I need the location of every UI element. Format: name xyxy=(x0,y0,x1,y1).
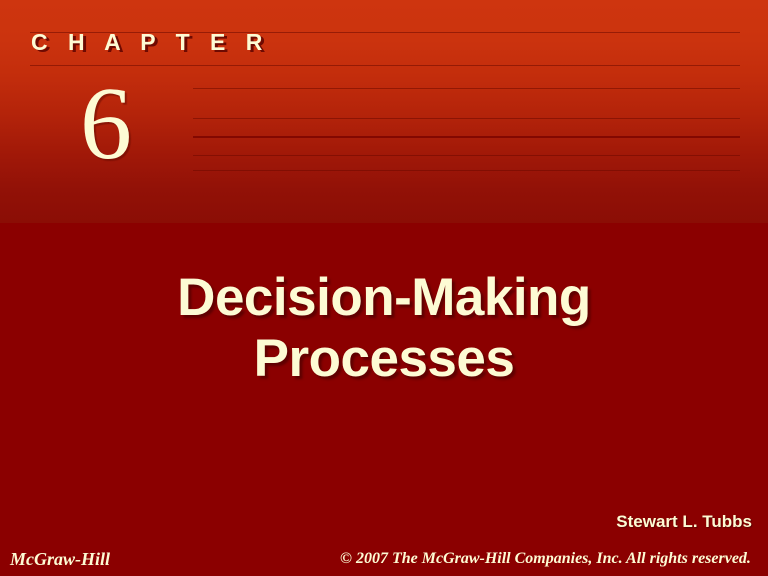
presentation-slide: C H A P T E R 6 Decision-Making Processe… xyxy=(0,0,768,576)
rule-mid-3 xyxy=(193,136,740,138)
slide-title: Decision-Making Processes xyxy=(0,267,768,390)
slide-title-line-1: Decision-Making xyxy=(0,267,768,328)
copyright-notice: © 2007 The McGraw-Hill Companies, Inc. A… xyxy=(340,550,751,568)
rule-mid-4 xyxy=(193,155,740,156)
chapter-number: 6 xyxy=(58,72,154,176)
author-name: Stewart L. Tubbs xyxy=(616,512,752,532)
rule-mid-1 xyxy=(193,88,740,89)
rule-under-label xyxy=(30,65,740,66)
slide-title-line-2: Processes xyxy=(0,328,768,389)
publisher-logo-text: McGraw-Hill xyxy=(10,549,110,570)
chapter-eyebrow-label: C H A P T E R xyxy=(31,31,269,54)
rule-mid-5 xyxy=(193,170,740,171)
rule-mid-2 xyxy=(193,118,740,119)
